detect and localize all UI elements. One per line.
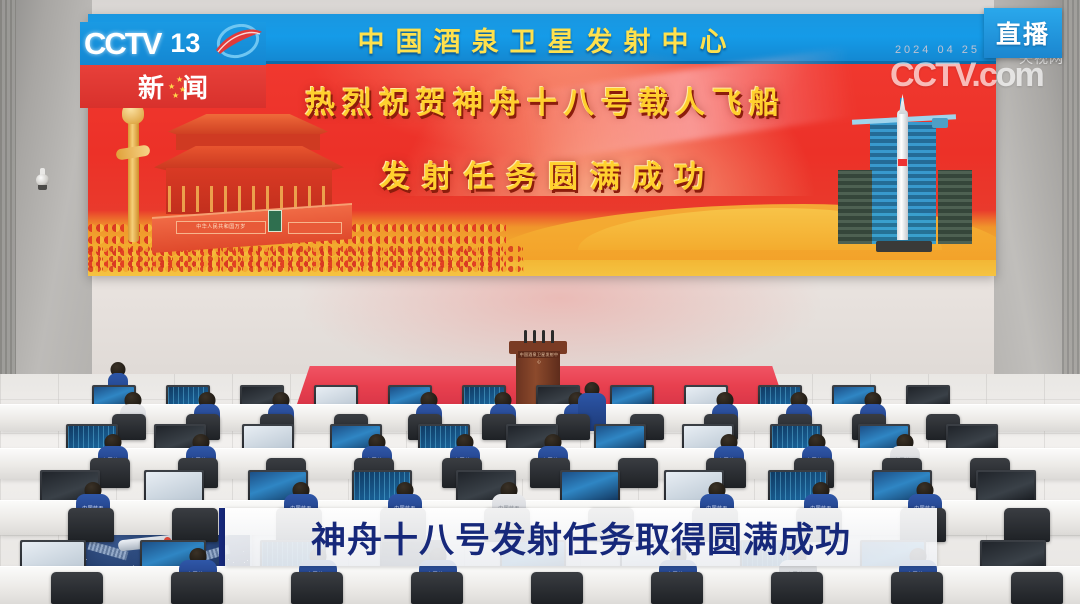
channel-network-text: CCTV: [84, 26, 160, 62]
operator-chair: [51, 572, 103, 604]
tiananmen-left-plaque: 中华人民共和国万岁: [176, 221, 266, 234]
wall-light-glow: [300, 262, 820, 382]
operator-chair: [411, 572, 463, 604]
podium-nameplate-text: 中国酒泉卫星发射中心: [518, 351, 560, 365]
console-monitor: [560, 470, 620, 504]
live-badge: 直播: [984, 8, 1062, 58]
operator-chair: [1004, 508, 1050, 542]
channel-logo-top: CCTV 13: [80, 22, 266, 65]
left-wall: [0, 0, 92, 420]
watermark-primary-text: CCTV.com: [890, 56, 1043, 95]
channel-number-text: 13: [170, 28, 200, 59]
operator-chair: [68, 508, 114, 542]
channel-logo: CCTV 13 新闻 ★★ ★★: [80, 22, 266, 108]
lower-third-text: 神舟十八号发射任务取得圆满成功: [311, 512, 851, 563]
broadcast-screenshot: 中国酒泉卫星发射中心 2024 04 25 中华人民共和国万岁: [0, 0, 1080, 604]
tiananmen-gate-arch: [268, 210, 282, 232]
podium-nameplate: 中国酒泉卫星发射中心: [518, 351, 560, 358]
left-wall-ribbing: [0, 0, 16, 420]
podium-microphones: [524, 330, 554, 343]
banner-headline-line2: 发射任务圆满成功: [88, 152, 996, 196]
live-badge-text: 直播: [996, 15, 1050, 51]
console-monitor: [144, 470, 204, 504]
tiananmen-right-plaque: [288, 222, 342, 234]
cctv-swoosh-icon: [208, 24, 264, 64]
operator-chair: [891, 572, 943, 604]
operator-chair: [172, 508, 218, 542]
operator-chair: [531, 572, 583, 604]
lower-third-caption: 神舟十八号发射任务取得圆满成功: [225, 508, 937, 566]
launch-pad-base: [876, 241, 932, 252]
dome-camera-icon: [36, 168, 49, 190]
tiananmen-left-plaque-text: 中华人民共和国万岁: [177, 222, 265, 232]
operator-chair: [1011, 572, 1063, 604]
operator-chair: [651, 572, 703, 604]
console-monitor: [976, 470, 1036, 504]
operator-chair: [618, 458, 658, 488]
logo-stars-icon: ★★ ★★: [168, 74, 194, 100]
operator-chair: [771, 572, 823, 604]
operator-chair: [291, 572, 343, 604]
operator-chair: [171, 572, 223, 604]
